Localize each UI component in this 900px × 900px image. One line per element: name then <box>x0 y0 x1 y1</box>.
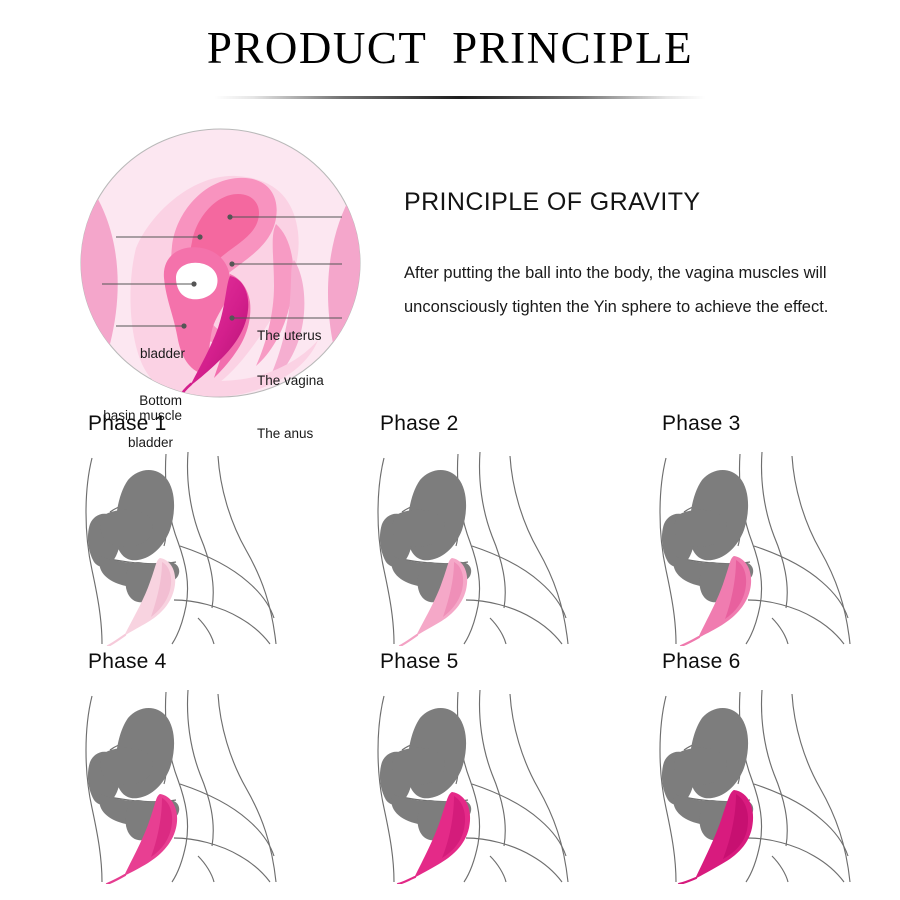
phase-panel-2: Phase 2 <box>372 412 662 652</box>
phase-panel-1: Phase 1 <box>80 412 370 652</box>
anatomy-label-the-vagina: The vagina <box>257 373 324 388</box>
title-divider <box>214 96 706 99</box>
gravity-body-text: After putting the ball into the body, th… <box>404 256 854 324</box>
phase-figure-4 <box>80 688 285 884</box>
phase-label-6: Phase 6 <box>662 650 740 674</box>
phase-figure-6 <box>654 688 859 884</box>
phase-figure-1 <box>80 450 285 646</box>
phase-panel-5: Phase 5 <box>372 650 662 890</box>
product-principle-infographic: PRODUCT PRINCIPLE <box>0 0 900 900</box>
page-title: PRODUCT PRINCIPLE <box>0 26 900 71</box>
phase-figure-3 <box>654 450 859 646</box>
phase-panel-4: Phase 4 <box>80 650 370 890</box>
anatomy-label-the-uterus: The uterus <box>257 328 322 343</box>
anatomy-circle-illustration: bladder Bottom basin muscle bladder The … <box>80 128 361 398</box>
phase-figure-5 <box>372 688 577 884</box>
phase-label-5: Phase 5 <box>380 650 458 674</box>
phase-panel-3: Phase 3 <box>654 412 900 652</box>
phase-label-1: Phase 1 <box>88 412 166 436</box>
gravity-heading: PRINCIPLE OF GRAVITY <box>404 188 700 217</box>
phase-label-2: Phase 2 <box>380 412 458 436</box>
phase-grid: Phase 1 <box>0 412 900 900</box>
phase-label-4: Phase 4 <box>88 650 166 674</box>
phase-panel-6: Phase 6 <box>654 650 900 890</box>
phase-figure-2 <box>372 450 577 646</box>
anatomy-label-bladder-upper: bladder <box>70 346 185 361</box>
phase-label-3: Phase 3 <box>662 412 740 436</box>
